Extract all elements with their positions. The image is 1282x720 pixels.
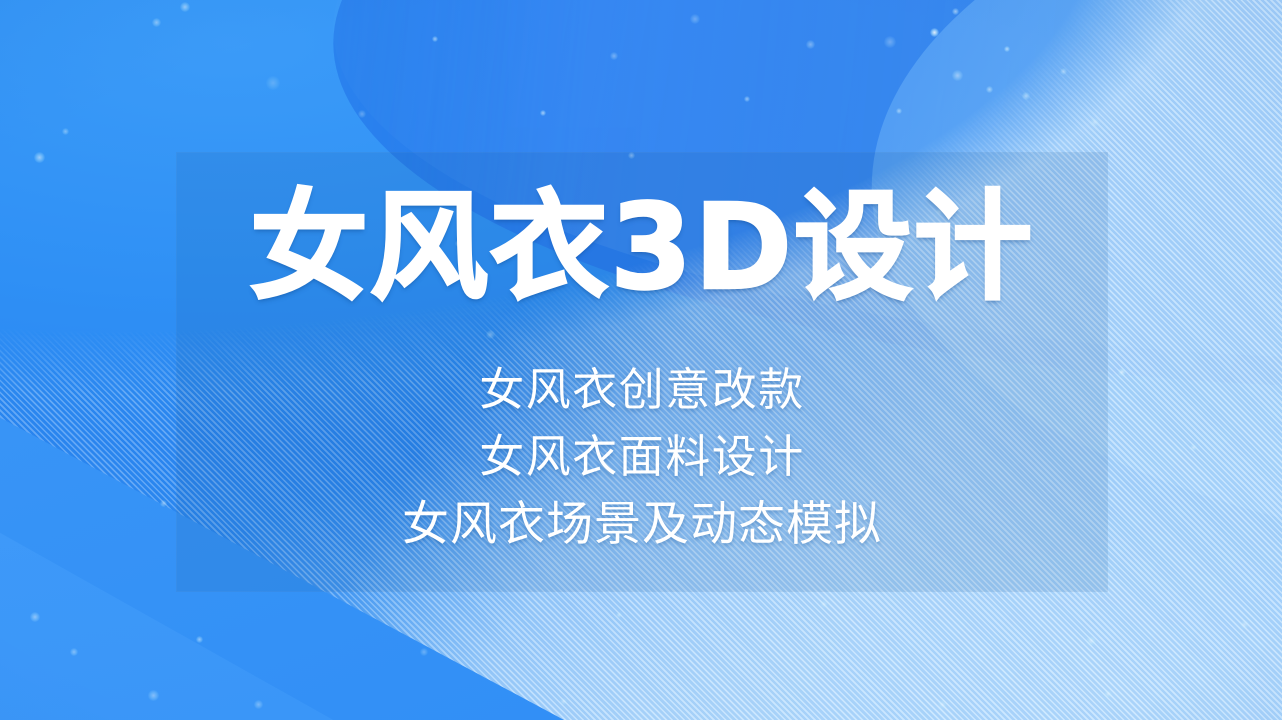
particle-dot bbox=[616, 612, 622, 618]
particle-dot bbox=[1240, 620, 1249, 629]
text-backdrop-panel: 女风衣3D设计 女风衣创意改款 女风衣面料设计 女风衣场景及动态模拟 bbox=[176, 152, 1108, 592]
particle-dot bbox=[1086, 636, 1096, 646]
particle-dot bbox=[1022, 92, 1030, 100]
subtitle-line-3: 女风衣场景及动态模拟 bbox=[176, 490, 1108, 560]
particle-dot bbox=[358, 110, 366, 118]
particle-dot bbox=[62, 128, 69, 135]
particle-dot bbox=[952, 70, 963, 81]
particle-dot bbox=[1118, 368, 1126, 376]
particle-dot bbox=[930, 28, 939, 37]
particle-dot bbox=[152, 18, 161, 27]
subtitle-list: 女风衣创意改款 女风衣面料设计 女风衣场景及动态模拟 bbox=[176, 357, 1108, 560]
particle-dot bbox=[160, 500, 167, 507]
particle-dot bbox=[196, 636, 203, 643]
particle-dot bbox=[952, 8, 959, 15]
particle-dot bbox=[884, 36, 896, 48]
particle-dot bbox=[610, 52, 618, 60]
particle-dot bbox=[1190, 444, 1197, 451]
particle-dot bbox=[1004, 46, 1010, 52]
particle-dot bbox=[420, 648, 428, 656]
particle-dot bbox=[540, 110, 546, 116]
particle-dot bbox=[432, 36, 438, 42]
particle-dot bbox=[266, 76, 280, 90]
particle-dot bbox=[70, 648, 78, 656]
page-title: 女风衣3D设计 bbox=[176, 184, 1108, 311]
particle-dot bbox=[986, 86, 993, 93]
particle-dot bbox=[806, 40, 815, 49]
particle-dot bbox=[690, 14, 700, 24]
subtitle-line-2: 女风衣面料设计 bbox=[176, 424, 1108, 491]
particle-dot bbox=[30, 612, 40, 622]
particle-dot bbox=[560, 698, 567, 705]
particle-dot bbox=[1104, 690, 1112, 698]
particle-dot bbox=[896, 108, 902, 114]
poster-canvas: 女风衣3D设计 女风衣创意改款 女风衣面料设计 女风衣场景及动态模拟 bbox=[0, 0, 1282, 720]
subtitle-line-1: 女风衣创意改款 bbox=[176, 357, 1108, 424]
particle-dot bbox=[938, 700, 947, 709]
particle-dot bbox=[744, 96, 750, 102]
particle-dot bbox=[1090, 118, 1099, 127]
particle-dot bbox=[180, 2, 190, 12]
particle-dot bbox=[148, 690, 159, 701]
panel-content: 女风衣3D设计 女风衣创意改款 女风衣面料设计 女风衣场景及动态模拟 bbox=[176, 152, 1108, 592]
particle-dot bbox=[254, 700, 263, 709]
particle-dot bbox=[34, 152, 45, 163]
particle-dot bbox=[820, 600, 828, 608]
particle-dot bbox=[1060, 68, 1067, 75]
